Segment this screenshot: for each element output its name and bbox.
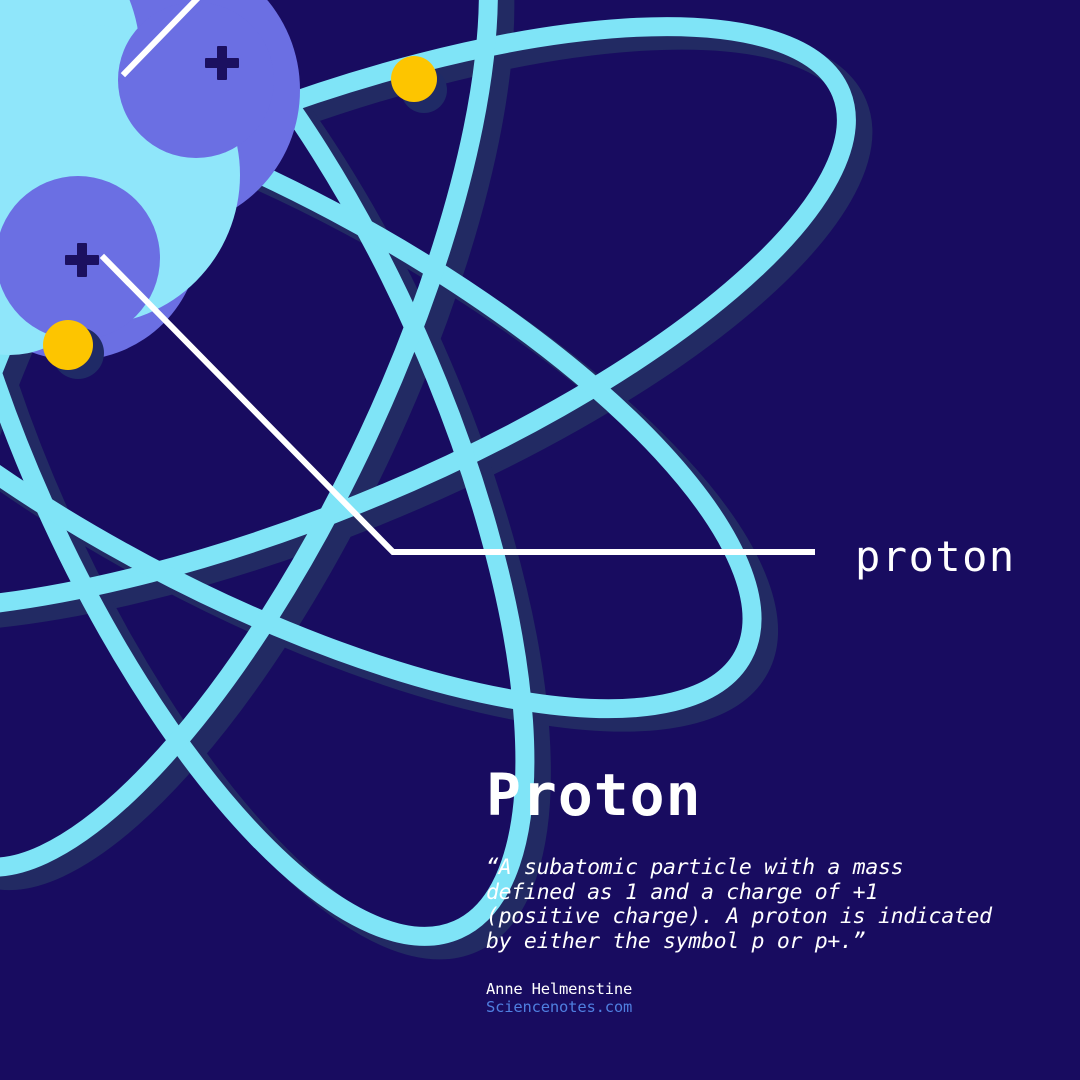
attribution-site[interactable]: Sciencenotes.com [486, 998, 956, 1016]
text-panel: Proton “A subatomic particle with a mass… [486, 766, 956, 1016]
electron-1 [391, 56, 437, 102]
callout-label-proton: proton [855, 532, 1016, 581]
quote-line-1: “A subatomic particle with a mass [486, 856, 956, 881]
quote-line-3: (positive charge). A proton is indicated [486, 905, 956, 930]
quote-line-4: by either the symbol p or p+.” [486, 930, 956, 955]
electron-2 [43, 320, 93, 370]
nucleus-proton-sphere-3 [118, 2, 274, 158]
definition-quote: “A subatomic particle with a mass define… [486, 856, 956, 954]
infographic-canvas: proton Proton “A subatomic particle with… [0, 0, 1080, 1080]
page-title: Proton [486, 766, 956, 824]
attribution-author: Anne Helmenstine [486, 980, 956, 998]
quote-line-2: defined as 1 and a charge of +1 [486, 881, 956, 906]
attribution: Anne Helmenstine Sciencenotes.com [486, 980, 956, 1016]
